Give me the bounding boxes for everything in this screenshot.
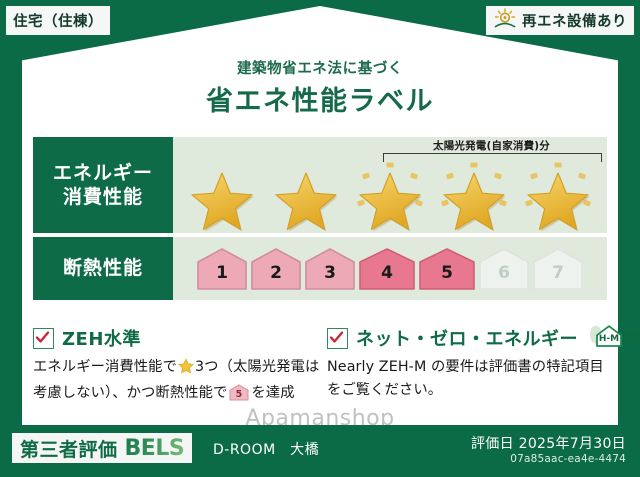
grade-value: 6	[478, 263, 530, 283]
dwelling-type-text: 住宅（住棟）	[13, 10, 103, 31]
star-3	[351, 159, 429, 231]
grade-value: 7	[532, 263, 584, 283]
bels-logo-text: BELS	[125, 436, 185, 461]
energy-label-line2: 消費性能	[63, 185, 143, 209]
zeh-level-description: エネルギー消費性能で3つ（太陽光発電は考慮しない）、かつ断熱性能で5を達成	[33, 356, 321, 409]
zeh-level-checkbox[interactable]	[33, 328, 54, 349]
net-zero-energy-block: ネット・ゼロ・エネルギー H-M Nearly ZEH-M Nearly ZEH…	[327, 326, 613, 402]
renewable-equipment-text: 再エネ設備あり	[522, 10, 627, 31]
star-4	[435, 159, 513, 231]
net-zero-title: ネット・ゼロ・エネルギー	[356, 325, 578, 351]
zeh-level-title: ZEH水準	[62, 325, 141, 351]
net-zero-description: Nearly ZEH-M の要件は評価書の特記項目をご覧ください。	[327, 356, 613, 402]
grade-value: 2	[250, 263, 302, 283]
insulation-grade-area: 1234567	[173, 237, 607, 300]
zeh-desc-part1: エネルギー消費性能で	[33, 359, 177, 375]
evaluation-date: 評価日 2025年7月30日	[471, 433, 626, 453]
insulation-grade-4: 4	[358, 246, 416, 292]
star-rating	[173, 159, 607, 231]
zeh-desc-part4: を達成	[251, 385, 294, 401]
inline-star-icon	[178, 362, 194, 378]
net-zero-header: ネット・ゼロ・エネルギー H-M Nearly ZEH-M	[327, 326, 613, 350]
insulation-grade-1: 1	[196, 246, 248, 292]
label-subtitle: 建築物省エネ法に基づく	[0, 57, 640, 78]
insulation-grade-3: 3	[304, 246, 356, 292]
grade-value: 1	[196, 263, 248, 283]
grade-value: 4	[358, 263, 416, 283]
page-title: 省エネ性能ラベル	[0, 79, 640, 118]
insulation-grade-2: 2	[250, 246, 302, 292]
svg-text:ZEH-M: ZEH-M	[625, 339, 640, 345]
footer-bar: 第三者評価 BELS D-ROOM 大橋 評価日 2025年7月30日 07a8…	[0, 425, 640, 477]
zeh-level-header: ZEH水準	[33, 326, 321, 350]
star-5	[519, 159, 597, 231]
zeh-level-block: ZEH水準 エネルギー消費性能で3つ（太陽光発電は考慮しない）、かつ断熱性能で5…	[33, 326, 321, 409]
energy-performance-stars-area: 太陽光発電(自家消費)分	[173, 137, 607, 233]
bels-badge: 第三者評価 BELS	[12, 433, 192, 463]
energy-performance-label: エネルギー 消費性能	[33, 137, 173, 233]
insulation-grade-7: 7	[532, 246, 584, 292]
building-name: D-ROOM 大橋	[213, 439, 319, 459]
grade-value: 5	[418, 263, 476, 283]
star-2	[267, 159, 345, 231]
insulation-grade-list: 1234567	[173, 237, 607, 300]
solar-annotation-text: 太陽光発電(自家消費)分	[379, 138, 604, 153]
star-1	[183, 159, 261, 231]
energy-performance-label: 住宅（住棟） 再エネ設備あり 建築物省エネ法に基づく 省エネ性能ラベル	[0, 0, 640, 477]
zeh-desc-part2: 3つ（太陽光発電	[195, 359, 305, 375]
energy-performance-row: エネルギー 消費性能 太陽光発電(自家消費)分	[33, 137, 607, 233]
insulation-performance-label: 断熱性能	[33, 237, 173, 300]
insulation-performance-row: 断熱性能 1234567	[33, 237, 607, 300]
inline-grade-badge: 5	[229, 389, 249, 405]
insulation-grade-6: 6	[478, 246, 530, 292]
bels-japanese-label: 第三者評価	[20, 435, 118, 462]
evaluation-id: 07a85aac-ea4e-4474	[510, 453, 626, 465]
svg-text:H-M: H-M	[599, 334, 619, 344]
insulation-label-text: 断熱性能	[63, 256, 143, 280]
insulation-grade-5: 5	[418, 246, 476, 292]
energy-label-line1: エネルギー	[53, 161, 153, 185]
sun-icon	[493, 8, 517, 33]
zeh-m-logo-icon: H-M Nearly ZEH-M	[588, 322, 640, 354]
grade-value: 3	[304, 263, 356, 283]
renewable-equipment-tag: 再エネ設備あり	[486, 6, 634, 35]
dwelling-type-tag: 住宅（住棟）	[6, 6, 110, 35]
net-zero-checkbox[interactable]	[327, 328, 348, 349]
svg-text:5: 5	[236, 389, 243, 400]
